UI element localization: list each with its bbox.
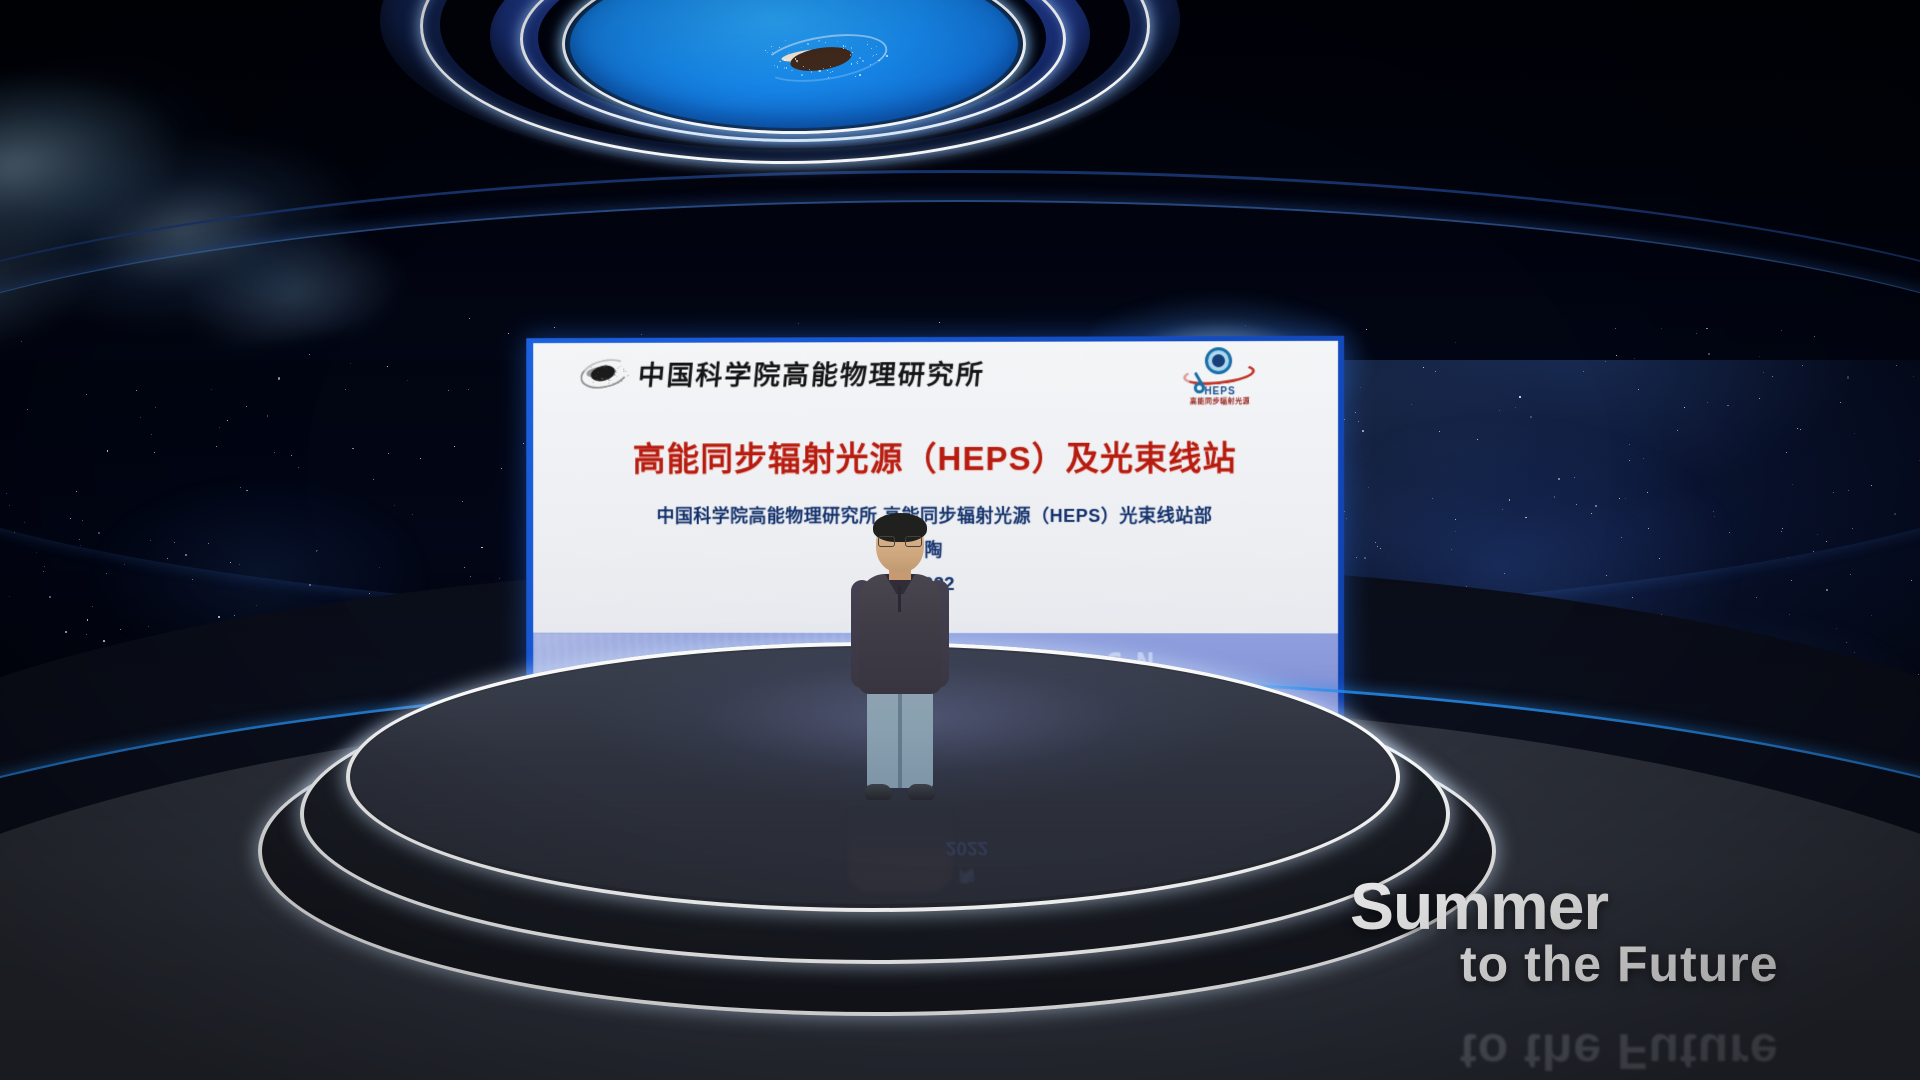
heps-logo-subtext: 高能同步辐射光源 [1181, 396, 1260, 406]
swirl-dots [579, 357, 631, 391]
presenter-left-shoe [865, 784, 892, 800]
org-name: 中国科学院高能物理研究所 [637, 353, 987, 393]
presenter-trousers [867, 688, 933, 788]
ihep-swirl-logo [579, 357, 631, 391]
slide-title: 高能同步辐射光源（HEPS）及光束线站 [533, 431, 1338, 480]
presenter-figure [845, 516, 955, 808]
heps-dot-icon [1212, 354, 1225, 367]
presenter-right-shoe [908, 784, 935, 800]
date-reflection: 2022 [862, 836, 1072, 858]
ceiling-dome [370, 0, 1210, 360]
glasses-icon [878, 536, 922, 547]
galaxy-swirl-emblem [760, 28, 890, 86]
slide-logo-row: 中国科学院高能物理研究所 HEPS 高能同步辐射光源 [533, 341, 1338, 405]
heps-logo: HEPS 高能同步辐射光源 [1181, 346, 1260, 404]
presenter-placket [898, 586, 901, 612]
presenter-name-reflection: 陶 [862, 866, 1072, 887]
emblem-star-dots [760, 28, 890, 86]
studio-scene: 中国科学院高能物理研究所 HEPS 高能同步辐射光源 高能同步辐射光源（HEPS… [0, 0, 1920, 1080]
